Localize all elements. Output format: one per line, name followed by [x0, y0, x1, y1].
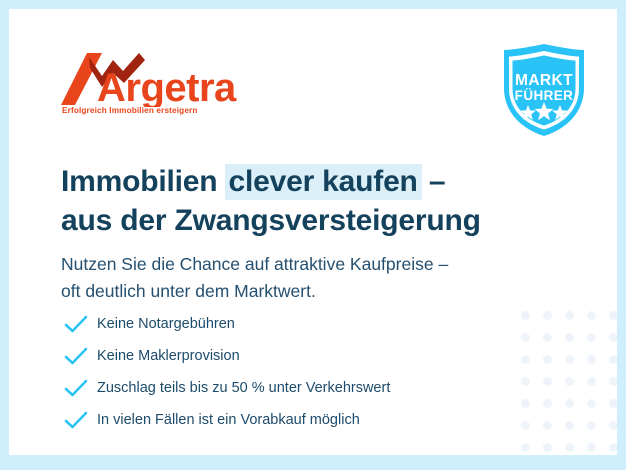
shield-icon: MARKT FÜHRER [498, 42, 590, 138]
decorative-dot [609, 399, 617, 408]
dot-grid-decoration [521, 311, 617, 455]
decorative-dot [543, 311, 552, 320]
decorative-dot [521, 377, 530, 386]
decorative-dot [587, 399, 596, 408]
decorative-dot [521, 333, 530, 342]
benefit-label: In vielen Fällen ist ein Vorabkauf mögli… [97, 412, 360, 428]
benefit-label: Keine Notargebühren [97, 316, 235, 332]
benefit-label: Zuschlag teils bis zu 50 % unter Verkehr… [97, 380, 390, 396]
check-icon [63, 378, 89, 398]
benefit-item: Zuschlag teils bis zu 50 % unter Verkehr… [63, 372, 390, 404]
logo-tagline: Erfolgreich Immobilien ersteigern [62, 106, 198, 115]
decorative-dot [521, 311, 530, 320]
card-canvas: Argetra Erfolgreich Immobilien ersteiger… [9, 9, 617, 455]
decorative-dot [587, 311, 596, 320]
decorative-dot [543, 443, 552, 452]
decorative-dot [543, 377, 552, 386]
decorative-dot [609, 421, 617, 430]
page-title: Immobilien clever kaufen – aus der Zwang… [61, 162, 481, 240]
headline-highlight: clever kaufen [225, 164, 422, 200]
decorative-dot [565, 443, 574, 452]
argetra-logo: Argetra Erfolgreich Immobilien ersteiger… [61, 51, 251, 121]
decorative-dot [543, 333, 552, 342]
decorative-dot [587, 355, 596, 364]
badge-line2: FÜHRER [515, 88, 574, 103]
decorative-dot [521, 355, 530, 364]
argetra-logo-mark: Argetra [61, 51, 251, 107]
decorative-dot [543, 399, 552, 408]
decorative-dot [609, 333, 617, 342]
headline-pre: Immobilien [61, 165, 226, 198]
headline-post: – [421, 165, 446, 198]
svg-text:Argetra: Argetra [97, 66, 237, 107]
benefit-item: Keine Notargebühren [63, 308, 390, 340]
decorative-dot [565, 355, 574, 364]
benefit-item: In vielen Fällen ist ein Vorabkauf mögli… [63, 404, 390, 436]
decorative-dot [543, 421, 552, 430]
headline-line-1: Immobilien clever kaufen – [61, 165, 445, 198]
decorative-dot [587, 421, 596, 430]
decorative-dot [521, 399, 530, 408]
decorative-dot [565, 377, 574, 386]
decorative-dot [565, 399, 574, 408]
decorative-dot [609, 355, 617, 364]
benefit-item: Keine Maklerprovision [63, 340, 390, 372]
subtitle-line-1: Nutzen Sie die Chance auf attraktive Kau… [61, 254, 448, 274]
check-icon [63, 346, 89, 366]
benefit-label: Keine Maklerprovision [97, 348, 240, 364]
decorative-dot [565, 333, 574, 342]
page-subtitle: Nutzen Sie die Chance auf attraktive Kau… [61, 251, 448, 305]
decorative-dot [609, 377, 617, 386]
check-icon [63, 410, 89, 430]
decorative-dot [609, 443, 617, 452]
decorative-dot [521, 443, 530, 452]
decorative-dot [609, 311, 617, 320]
headline-line-2: aus der Zwangsversteigerung [61, 204, 481, 237]
decorative-dot [565, 421, 574, 430]
decorative-dot [587, 443, 596, 452]
decorative-dot [543, 355, 552, 364]
market-leader-badge: MARKT FÜHRER [498, 42, 590, 138]
benefit-list: Keine NotargebührenKeine Maklerprovision… [63, 308, 390, 436]
check-icon [63, 314, 89, 334]
promo-card: Argetra Erfolgreich Immobilien ersteiger… [0, 0, 626, 470]
subtitle-line-2: oft deutlich unter dem Marktwert. [61, 281, 316, 301]
decorative-dot [587, 333, 596, 342]
decorative-dot [565, 311, 574, 320]
badge-line1: MARKT [515, 72, 573, 89]
decorative-dot [587, 377, 596, 386]
decorative-dot [521, 421, 530, 430]
